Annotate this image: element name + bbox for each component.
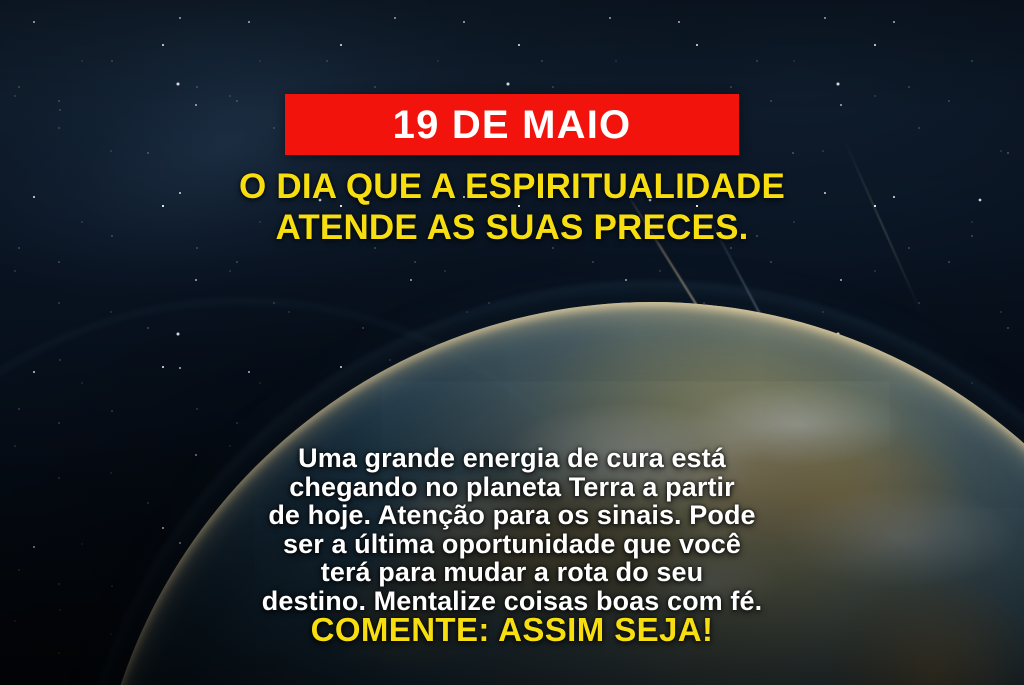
call-to-action-label: COMENTE: ASSIM SEJA! (311, 611, 714, 648)
body-line-4: ser a última oportunidade que você (44, 530, 980, 559)
body-line-1: Uma grande energia de cura está (44, 444, 980, 473)
body-paragraph: Uma grande energia de cura está chegando… (0, 444, 1024, 616)
poster-content: 19 DE MAIO O DIA QUE A ESPIRITUALIDADE A… (0, 0, 1024, 685)
poster-canvas: 19 DE MAIO O DIA QUE A ESPIRITUALIDADE A… (0, 0, 1024, 685)
headline-line-1: O DIA QUE A ESPIRITUALIDADE (40, 167, 984, 208)
date-banner: 19 DE MAIO (285, 94, 739, 155)
headline-line-2: ATENDE AS SUAS PRECES. (40, 208, 984, 249)
body-line-5: terá para mudar a rota do seu (44, 558, 980, 587)
date-banner-label: 19 DE MAIO (393, 105, 632, 145)
body-line-3: de hoje. Atenção para os sinais. Pode (44, 501, 980, 530)
body-line-2: chegando no planeta Terra a partir (44, 473, 980, 502)
headline: O DIA QUE A ESPIRITUALIDADE ATENDE AS SU… (0, 167, 1024, 248)
call-to-action: COMENTE: ASSIM SEJA! (0, 613, 1024, 646)
